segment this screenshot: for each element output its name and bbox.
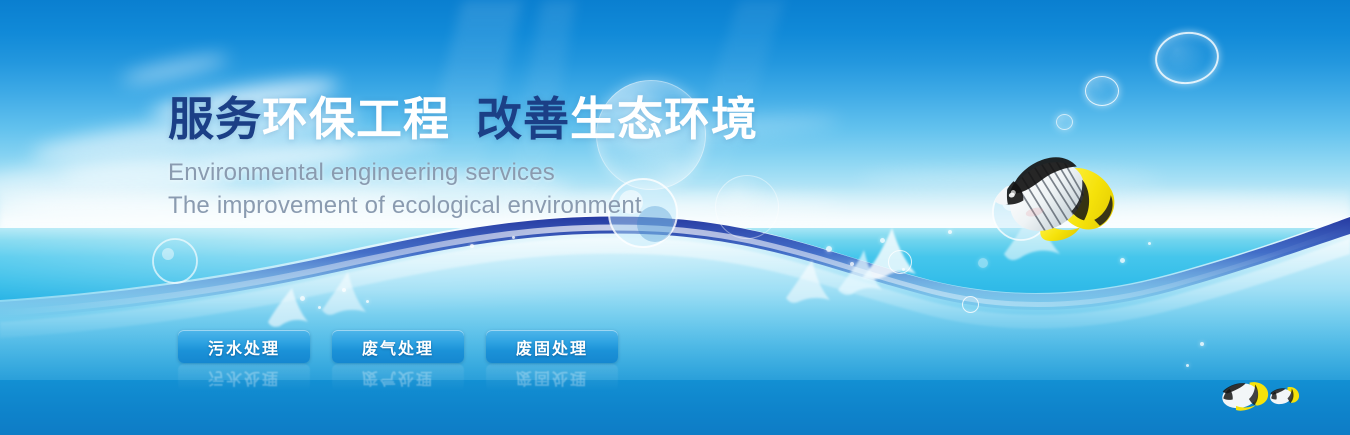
- button-solid-waste-treatment[interactable]: 废固处理: [486, 330, 618, 363]
- headline-block: 服务环保工程改善生态环境 Environmental engineering s…: [168, 95, 868, 223]
- service-button-row: 污水处理 污水处理 废气处理 废气处理 废固处理 废固处理: [178, 330, 618, 392]
- button-cell-solid-waste: 废固处理 废固处理: [486, 330, 618, 392]
- headline-part2-light: 生态环境: [570, 93, 758, 145]
- button-wastewater-treatment[interactable]: 污水处理: [178, 330, 310, 363]
- environmental-banner: 服务环保工程改善生态环境 Environmental engineering s…: [0, 0, 1350, 435]
- headline-part1-dark: 服务: [168, 93, 262, 145]
- button-wastewater-reflection: 污水处理: [178, 364, 310, 392]
- subtitle-line-1: Environmental engineering services: [168, 157, 868, 189]
- subtitle-line-2: The improvement of ecological environmen…: [168, 190, 868, 222]
- button-cell-wastewater: 污水处理 污水处理: [178, 330, 310, 392]
- headline-part2-dark: 改善: [476, 93, 570, 145]
- button-cell-waste-gas: 废气处理 废气处理: [332, 330, 464, 392]
- button-solid-waste-reflection: 废固处理: [486, 364, 618, 392]
- button-waste-gas-reflection: 废气处理: [332, 364, 464, 392]
- page-title: 服务环保工程改善生态环境: [168, 95, 868, 143]
- headline-part1-light: 环保工程: [262, 93, 450, 145]
- subtitle-block: Environmental engineering services The i…: [168, 157, 868, 221]
- button-waste-gas-treatment[interactable]: 废气处理: [332, 330, 464, 363]
